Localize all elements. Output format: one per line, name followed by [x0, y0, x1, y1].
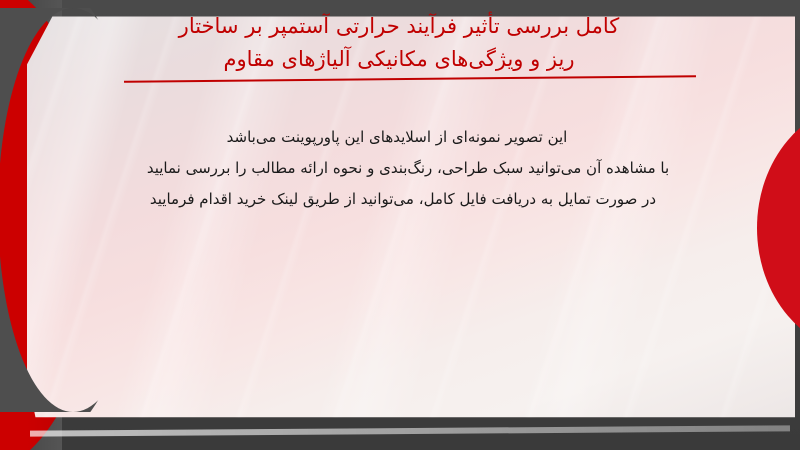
slide-title-line-2: ریز و ویژگی‌های مکانیکی آلیاژهای مقاوم: [94, 43, 704, 76]
body-line-1: این تصویر نمونه‌ای از اسلایدهای این پاور…: [128, 122, 666, 153]
slide-title-line-1: کامل بررسی تأثیر فرآیند حرارتی آستمپر بر…: [94, 10, 704, 43]
slide-title: کامل بررسی تأثیر فرآیند حرارتی آستمپر بر…: [94, 10, 704, 80]
body-line-2: با مشاهده آن می‌توانید سبک طراحی، رنگ‌بن…: [128, 153, 688, 184]
body-line-3: در صورت تمایل به دریافت فایل کامل، می‌تو…: [128, 184, 678, 215]
slide-body-text: این تصویر نمونه‌ای از اسلایدهای این پاور…: [128, 122, 688, 215]
slide-canvas: کامل بررسی تأثیر فرآیند حرارتی آستمپر بر…: [0, 0, 800, 450]
